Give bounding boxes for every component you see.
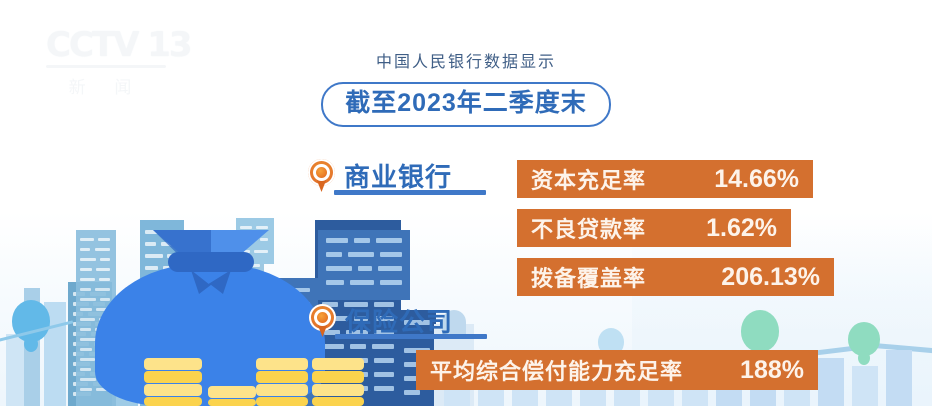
section-underline (334, 190, 486, 195)
metric-row: 资本充足率 14.66% (517, 160, 813, 198)
period-badge: 截至2023年二季度末 (321, 82, 611, 127)
sidebar-item-commercial-banks[interactable]: 商业银行 (308, 157, 452, 194)
metric-row: 拨备覆盖率 206.13% (517, 258, 834, 296)
metric-value: 14.66% (714, 165, 799, 194)
metric-row: 不良贷款率 1.62% (517, 209, 791, 247)
metric-value: 1.62% (706, 214, 777, 243)
building (852, 366, 878, 406)
building (818, 358, 844, 406)
tree-icon (846, 322, 882, 370)
metric-label: 资本充足率 (531, 163, 646, 195)
metric-label: 不良贷款率 (531, 212, 646, 244)
metric-label: 平均综合偿付能力充足率 (430, 354, 683, 386)
section-underline (335, 334, 487, 339)
location-pin-icon (308, 159, 335, 192)
header: 中国人民银行数据显示 截至2023年二季度末 (0, 48, 932, 127)
building (318, 230, 410, 300)
infographic-canvas: CCTV 13 新 闻 中国人民银行数据显示 截至2023年二季度末 商业银行 … (0, 0, 932, 406)
metric-row: 平均综合偿付能力充足率 188% (416, 350, 818, 390)
header-subtitle: 中国人民银行数据显示 (0, 48, 932, 72)
metric-label: 拨备覆盖率 (531, 261, 646, 293)
building (886, 350, 912, 406)
bag-tie (168, 252, 254, 272)
metric-value: 206.13% (721, 263, 820, 292)
section-label: 商业银行 (344, 157, 452, 194)
metric-value: 188% (740, 356, 804, 385)
location-pin-icon (309, 304, 336, 337)
